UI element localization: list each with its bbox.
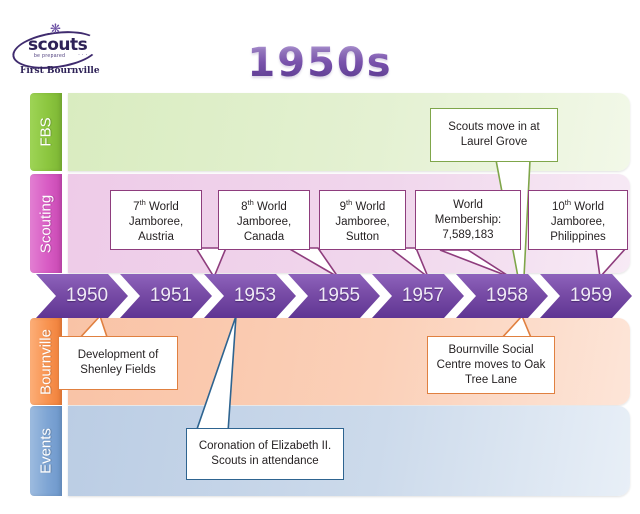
callout-bournville-social-centre[interactable]: Bournville Social Centre moves to Oak Tr… (427, 336, 555, 394)
callout-text: Coronation of Elizabeth II. Scouts in at… (193, 439, 337, 469)
band-body-events (68, 406, 630, 496)
callout-bournville-shenley-fields[interactable]: Development of Shenley Fields (58, 336, 178, 390)
fleur-de-lis-icon: ❋ (50, 22, 61, 35)
year-label: 1953 (224, 285, 276, 307)
band-label-events: Events (38, 428, 55, 474)
callout-scouting-jamboree-canada[interactable]: 8th World Jamboree, Canada (218, 190, 310, 250)
callout-text: 10th World Jamboree, Philippines (535, 195, 621, 245)
band-tab-fbs: FBS (30, 93, 62, 171)
timeline-infographic: ❋ scouts be prepared · · · First Bournvi… (0, 0, 640, 514)
callout-text: 8th World Jamboree, Canada (225, 195, 303, 245)
callout-scouting-world-membership[interactable]: World Membership: 7,589,183 (415, 190, 521, 250)
callout-scouting-jamboree-sutton[interactable]: 9th World Jamboree, Sutton (319, 190, 406, 250)
timeline-year-1953[interactable]: 1953 (204, 274, 296, 318)
band-tab-scouting: Scouting (30, 174, 62, 273)
timeline-year-1959[interactable]: 1959 (540, 274, 632, 318)
timeline-year-1951[interactable]: 1951 (120, 274, 212, 318)
callout-scouting-jamboree-austria[interactable]: 7th World Jamboree, Austria (110, 190, 202, 250)
callout-text: World Membership: 7,589,183 (422, 198, 514, 243)
band-label-bournville: Bournville (38, 329, 55, 395)
timeline-year-1958[interactable]: 1958 (456, 274, 548, 318)
band-tab-events: Events (30, 406, 62, 496)
year-label: 1959 (560, 285, 612, 307)
callout-scouting-jamboree-philippines[interactable]: 10th World Jamboree, Philippines (528, 190, 628, 250)
callout-events-coronation[interactable]: Coronation of Elizabeth II. Scouts in at… (186, 428, 344, 480)
year-label: 1955 (308, 285, 360, 307)
band-label-fbs: FBS (38, 117, 55, 146)
year-label: 1951 (140, 285, 192, 307)
callout-text: Bournville Social Centre moves to Oak Tr… (434, 343, 548, 388)
timeline-year-1957[interactable]: 1957 (372, 274, 464, 318)
page-title: 1950s (0, 40, 640, 86)
callout-text: Scouts move in at Laurel Grove (437, 120, 551, 150)
timeline-year-1955[interactable]: 1955 (288, 274, 380, 318)
callout-fbs-laurel-grove[interactable]: Scouts move in at Laurel Grove (430, 108, 558, 162)
timeline-year-1950[interactable]: 1950 (36, 274, 128, 318)
band-label-scouting: Scouting (38, 194, 55, 252)
timeline: 1950 1951 1953 1955 1957 1958 1959 (36, 274, 636, 318)
year-label: 1950 (56, 285, 108, 307)
callout-text: 9th World Jamboree, Sutton (326, 195, 399, 245)
callout-text: Development of Shenley Fields (65, 348, 171, 378)
callout-text: 7th World Jamboree, Austria (117, 195, 195, 245)
year-label: 1957 (392, 285, 444, 307)
year-label: 1958 (476, 285, 528, 307)
